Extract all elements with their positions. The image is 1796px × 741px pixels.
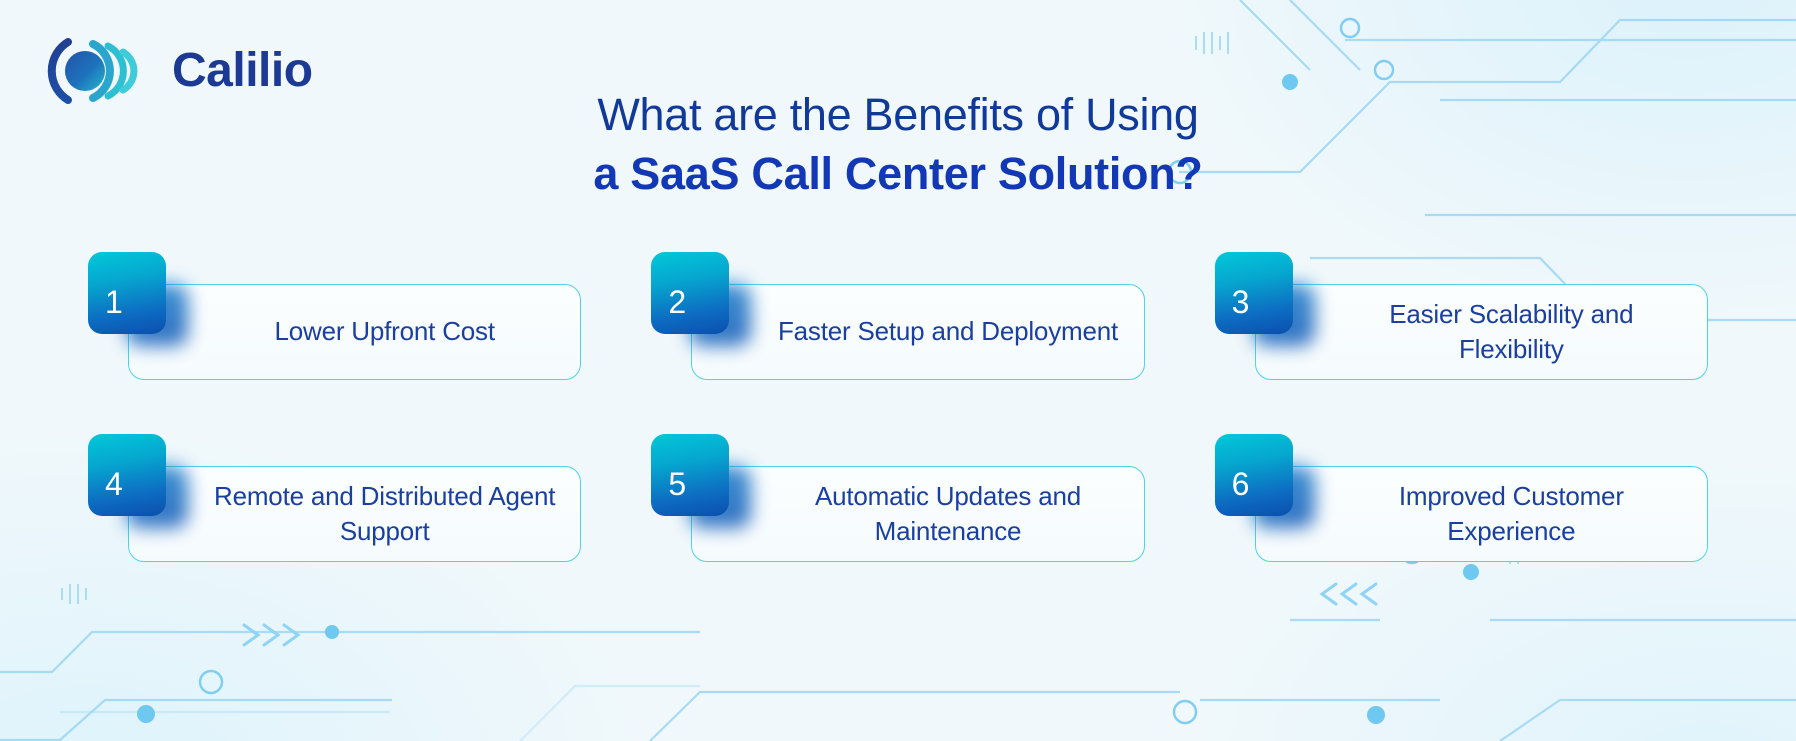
benefit-number-badge: 4 bbox=[88, 434, 166, 516]
benefit-card[interactable]: Easier Scalability and Flexibility 3 bbox=[1215, 252, 1708, 362]
benefit-label: Faster Setup and Deployment bbox=[700, 314, 1136, 349]
benefit-label: Improved Customer Experience bbox=[1256, 479, 1707, 550]
benefit-number: 3 bbox=[1215, 286, 1250, 334]
benefit-number-badge: 3 bbox=[1215, 252, 1293, 334]
benefit-label: Easier Scalability and Flexibility bbox=[1256, 297, 1707, 368]
benefit-number: 2 bbox=[651, 286, 686, 334]
benefit-number-badge: 6 bbox=[1215, 434, 1293, 516]
benefit-number-badge: 1 bbox=[88, 252, 166, 334]
benefit-card[interactable]: Improved Customer Experience 6 bbox=[1215, 434, 1708, 544]
benefit-card-body[interactable]: Easier Scalability and Flexibility bbox=[1255, 284, 1708, 380]
benefit-card-body[interactable]: Lower Upfront Cost bbox=[128, 284, 581, 380]
benefit-card-body[interactable]: Remote and Distributed Agent Support bbox=[128, 466, 581, 562]
benefit-card[interactable]: Lower Upfront Cost 1 bbox=[88, 252, 581, 362]
benefit-card[interactable]: Faster Setup and Deployment 2 bbox=[651, 252, 1144, 362]
benefit-card-body[interactable]: Faster Setup and Deployment bbox=[691, 284, 1144, 380]
benefit-number: 1 bbox=[88, 286, 123, 334]
benefit-card-body[interactable]: Improved Customer Experience bbox=[1255, 466, 1708, 562]
page-title: What are the Benefits of Using a SaaS Ca… bbox=[0, 88, 1796, 200]
benefit-number: 5 bbox=[651, 468, 686, 516]
benefit-card-body[interactable]: Automatic Updates and Maintenance bbox=[691, 466, 1144, 562]
benefit-number: 6 bbox=[1215, 468, 1250, 516]
benefit-number-badge: 2 bbox=[651, 252, 729, 334]
benefit-label: Lower Upfront Cost bbox=[196, 314, 512, 349]
benefit-label: Automatic Updates and Maintenance bbox=[692, 479, 1143, 550]
benefit-card[interactable]: Automatic Updates and Maintenance 5 bbox=[651, 434, 1144, 544]
benefit-card[interactable]: Remote and Distributed Agent Support 4 bbox=[88, 434, 581, 544]
benefit-number: 4 bbox=[88, 468, 123, 516]
page-title-line-2: a SaaS Call Center Solution? bbox=[0, 147, 1796, 200]
benefit-number-badge: 5 bbox=[651, 434, 729, 516]
page-title-line-1: What are the Benefits of Using bbox=[0, 88, 1796, 141]
benefit-label: Remote and Distributed Agent Support bbox=[129, 479, 580, 550]
benefits-grid: Lower Upfront Cost 1 Faster Setup and De… bbox=[88, 252, 1708, 544]
